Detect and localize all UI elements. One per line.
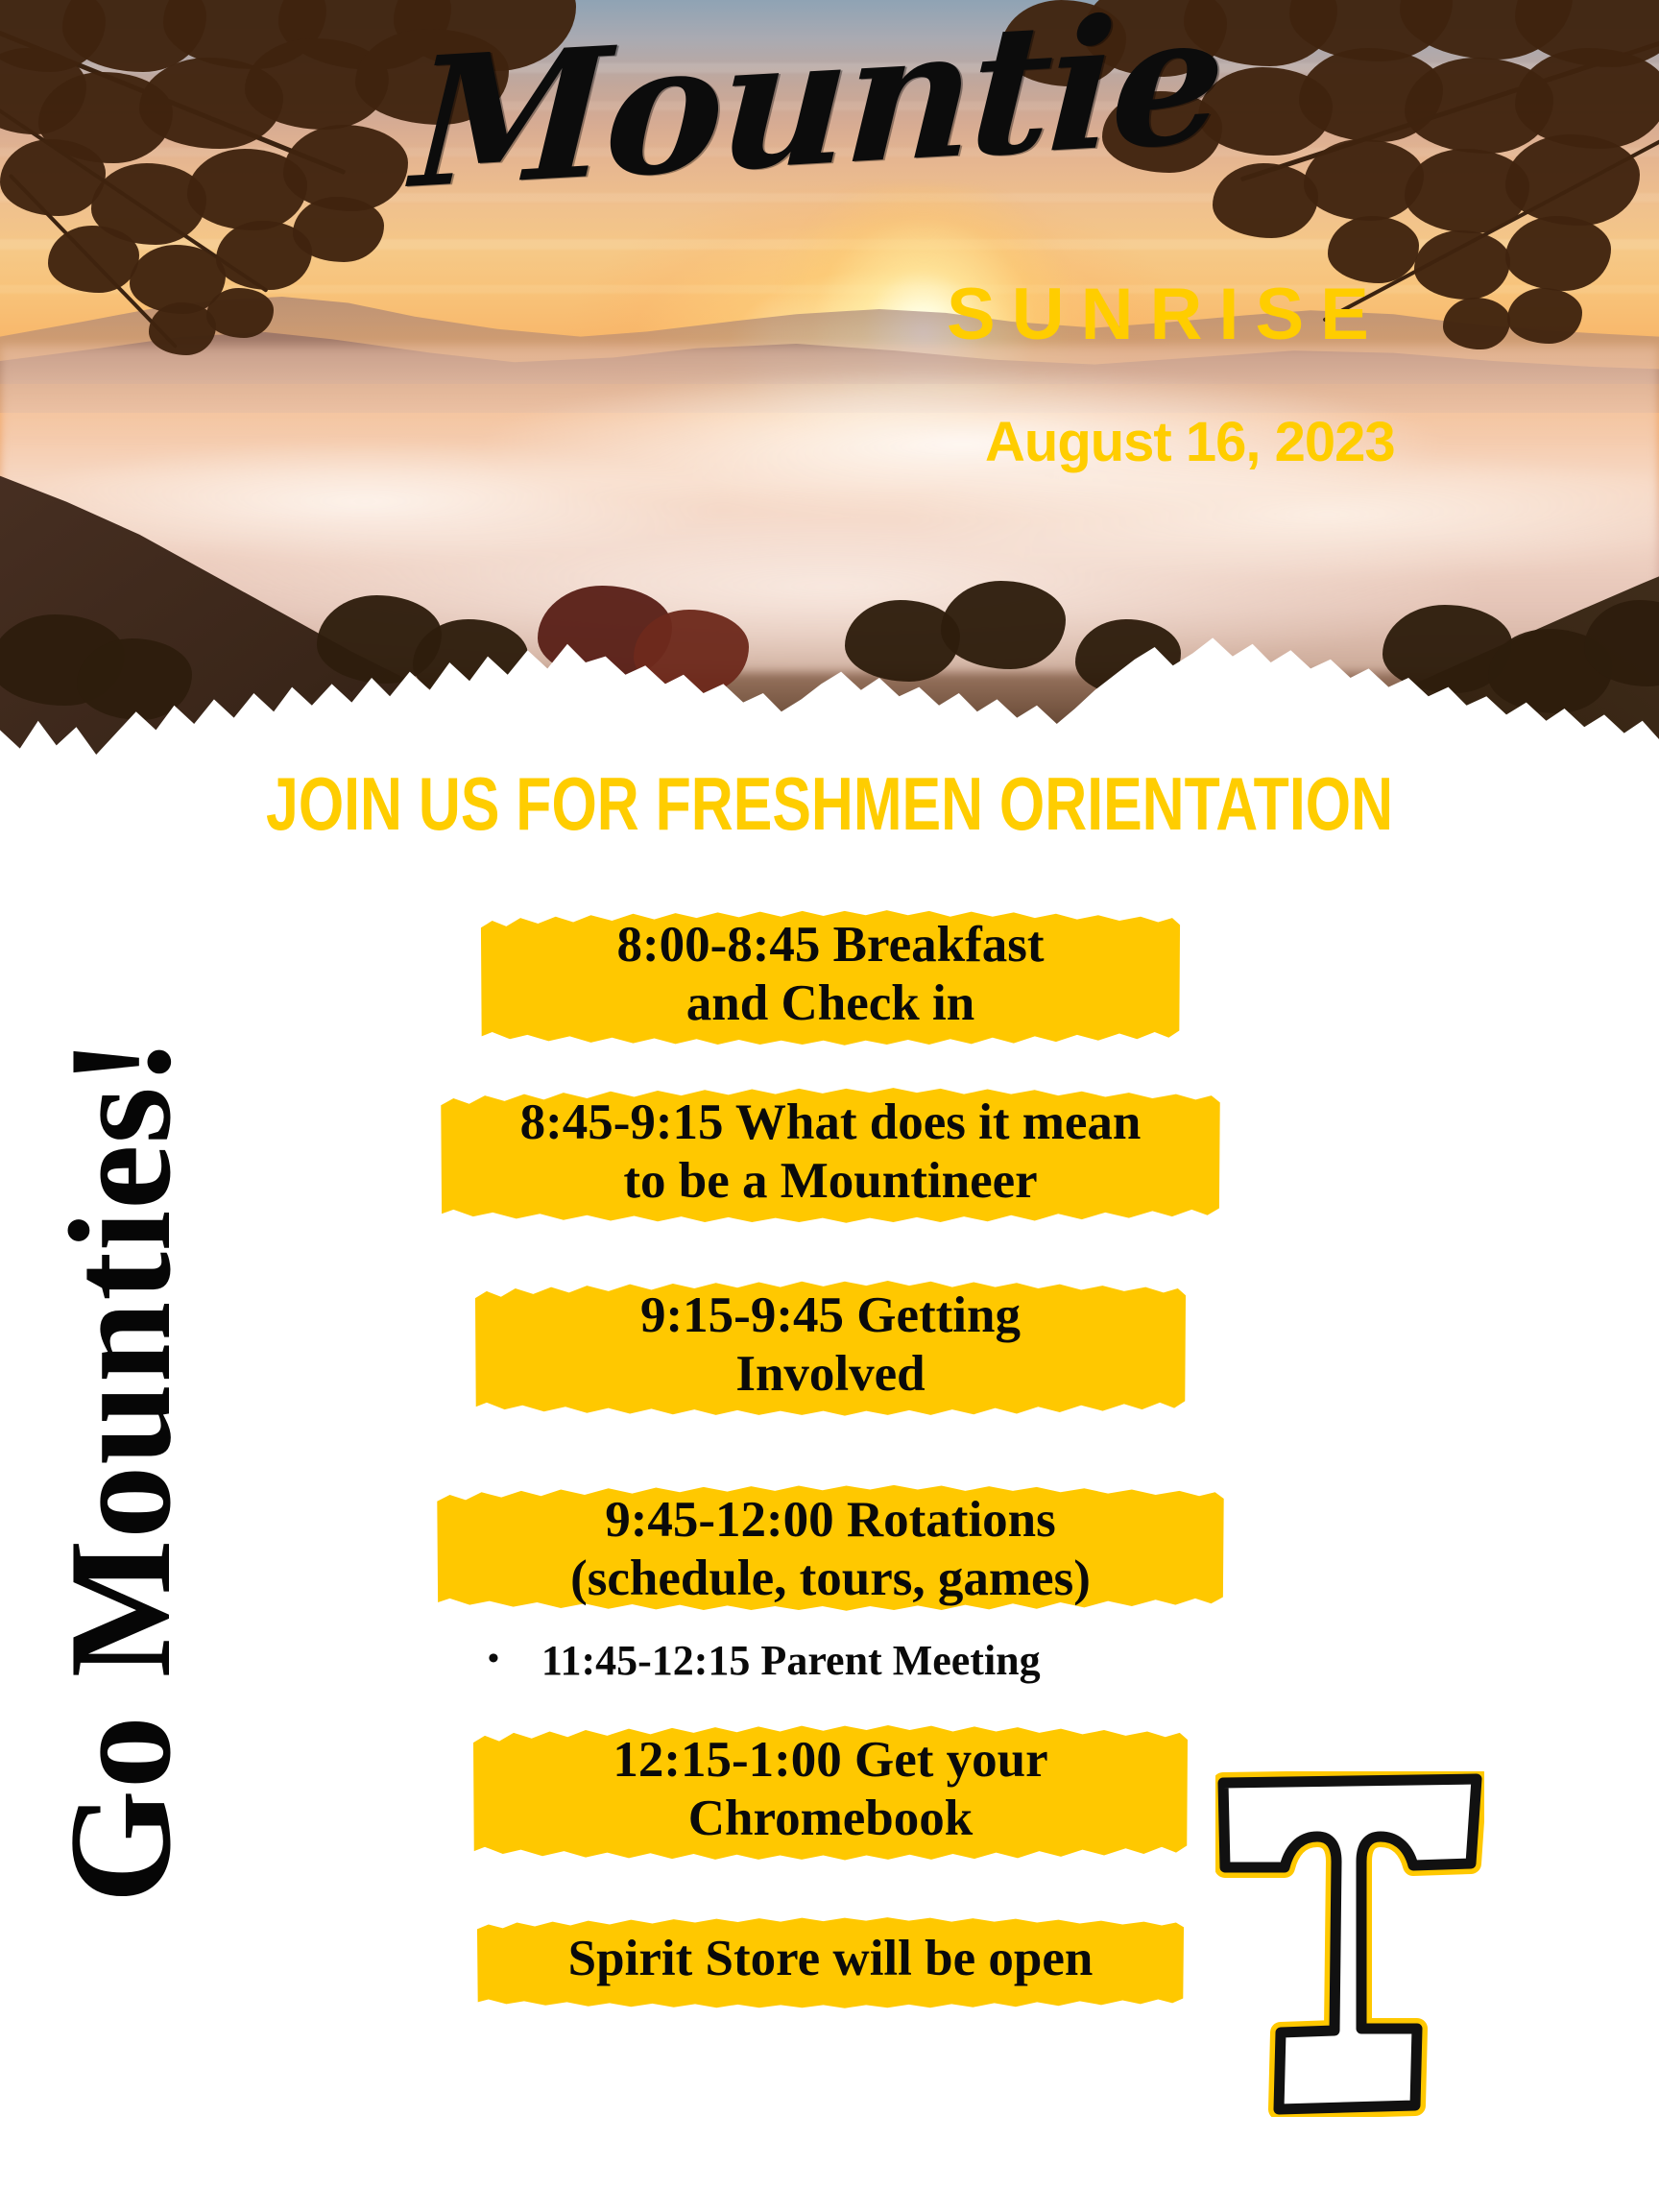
schedule-item-text: 8:00-8:45 Breakfast and Check in xyxy=(461,916,1200,1034)
schedule-list: 8:00-8:45 Breakfast and Check in 8:45-9:… xyxy=(451,902,1210,2040)
page-headline: JOIN US FOR FRESHMEN ORIENTATION xyxy=(182,766,1477,841)
schedule-line: to be a Mountineer xyxy=(461,1152,1200,1211)
schedule-item-spirit-store: Spirit Store will be open xyxy=(451,1916,1210,2006)
schedule-item-text: 9:15-9:45 Getting Involved xyxy=(461,1286,1200,1405)
poster: Mountie SUNRISE August 16, 2023 JOIN US … xyxy=(0,0,1659,2212)
schedule-item-what-does-it-mean: 8:45-9:15 What does it mean to be a Moun… xyxy=(451,1080,1210,1229)
schedule-item-text: 9:45-12:00 Rotations (schedule, tours, g… xyxy=(461,1491,1200,1609)
schedule-line: (schedule, tours, games) xyxy=(461,1550,1200,1608)
hero-subtitle: SUNRISE xyxy=(947,278,1385,351)
hero-title: Mountie xyxy=(409,0,1050,213)
schedule-line: Involved xyxy=(461,1345,1200,1404)
schedule-item-chromebook: 12:15-1:00 Get your Chromebook xyxy=(451,1718,1210,1866)
hero-date: August 16, 2023 xyxy=(985,415,1395,470)
schedule-line: 11:45-12:15 Parent Meeting xyxy=(541,1636,1041,1685)
schedule-line: Chromebook xyxy=(461,1790,1200,1848)
schedule-line: 8:00-8:45 Breakfast xyxy=(461,916,1200,974)
schedule-line: 12:15-1:00 Get your xyxy=(461,1731,1200,1790)
schedule-item-text: Spirit Store will be open xyxy=(461,1930,1200,1988)
schedule-line: Spirit Store will be open xyxy=(461,1930,1200,1988)
schedule-line: 8:45-9:15 What does it mean xyxy=(461,1094,1200,1152)
school-t-logo xyxy=(1215,1771,1484,2117)
schedule-line: and Check in xyxy=(461,974,1200,1033)
side-slogan: Go Mounties! xyxy=(47,923,193,2017)
schedule-item-text: 8:45-9:15 What does it mean to be a Moun… xyxy=(461,1094,1200,1212)
bullet-icon: • xyxy=(488,1643,499,1675)
schedule-line: 9:15-9:45 Getting xyxy=(461,1286,1200,1345)
schedule-item-text: • 11:45-12:15 Parent Meeting xyxy=(461,1636,1200,1685)
schedule-line: 9:45-12:00 Rotations xyxy=(461,1491,1200,1550)
schedule-item-rotations: 9:45-12:00 Rotations (schedule, tours, g… xyxy=(451,1478,1210,1626)
t-logo-icon xyxy=(1215,1771,1484,2117)
schedule-item-getting-involved: 9:15-9:45 Getting Involved xyxy=(451,1273,1210,1422)
schedule-item-breakfast: 8:00-8:45 Breakfast and Check in xyxy=(451,902,1210,1051)
schedule-item-parent-meeting: • 11:45-12:15 Parent Meeting xyxy=(451,1623,1210,1702)
schedule-item-text: 12:15-1:00 Get your Chromebook xyxy=(461,1731,1200,1849)
